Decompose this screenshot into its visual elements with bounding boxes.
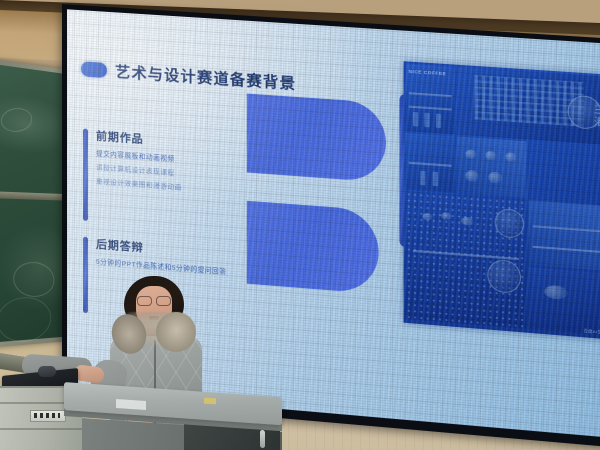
- classroom-scene: 艺术与设计赛道备赛背景 前期作品 提交内容展板和动画视频 讲授计算机设计表现课程…: [0, 0, 600, 450]
- title-bullet-icon: [81, 61, 107, 78]
- section-line: 重视设计效果图和漫游动画: [96, 176, 182, 192]
- product-shape: [465, 170, 479, 182]
- stool-shape: [436, 113, 441, 128]
- computer-mouse[interactable]: [38, 366, 56, 377]
- glasses-icon: [137, 296, 171, 304]
- product-shape: [488, 171, 502, 183]
- shelf-line: [533, 225, 600, 232]
- section-accent-bar: [83, 128, 88, 221]
- section-line: 提交内容展板和动画视频: [96, 147, 182, 163]
- lamp-shape: [544, 284, 567, 299]
- decorative-blob-lower: [247, 201, 379, 294]
- collage-cell-counter-view: [406, 133, 455, 192]
- calligraphy-text: 兰海: [577, 79, 600, 145]
- shelf-line: [409, 162, 452, 167]
- sticky-note: [204, 398, 216, 405]
- shelf-line: [409, 92, 452, 97]
- object-shape: [422, 212, 432, 220]
- slide-section-early-works: 前期作品 提交内容展板和动画视频 讲授计算机设计表现课程 重视设计效果图和漫游动…: [83, 126, 182, 228]
- section-accent-bar: [83, 237, 88, 314]
- collage-signage-label: NICE COFFEE: [409, 69, 447, 77]
- collage-cell-building-facade: 兰海: [456, 67, 600, 145]
- stool-shape: [412, 112, 417, 127]
- shelf-line: [533, 246, 600, 253]
- stool-shape: [433, 172, 438, 187]
- chalk-mark: [0, 296, 51, 344]
- product-shape: [465, 149, 477, 159]
- collage-cell-cafe-interior: NICE COFFEE: [406, 63, 455, 134]
- section-body: 前期作品 提交内容展板和动画视频 讲授计算机设计表现课程 重视设计效果图和漫游动…: [96, 127, 182, 228]
- stool-shape: [424, 112, 429, 127]
- facade-pattern: [474, 75, 583, 127]
- design-works-collage: NICE COFFEE 兰海: [404, 61, 600, 339]
- collage-cell-interior-render: [528, 200, 600, 271]
- cabinet-vent-icon: [34, 413, 60, 418]
- stool-shape: [420, 171, 425, 186]
- lectern-door-handle[interactable]: [260, 430, 265, 448]
- product-shape: [505, 152, 517, 162]
- collage-cell-product-sheet: [456, 136, 526, 197]
- collage-cell-dot-pattern-board: [406, 191, 526, 329]
- section-line: 讲授计算机设计表现课程: [96, 161, 182, 177]
- collage-grid: NICE COFFEE 兰海: [404, 61, 600, 339]
- collage-cell-lamp-render: [528, 267, 600, 335]
- shelf-line: [409, 105, 452, 110]
- decorative-blob-upper: [247, 94, 386, 183]
- lectern[interactable]: [64, 382, 282, 450]
- product-shape: [486, 151, 498, 161]
